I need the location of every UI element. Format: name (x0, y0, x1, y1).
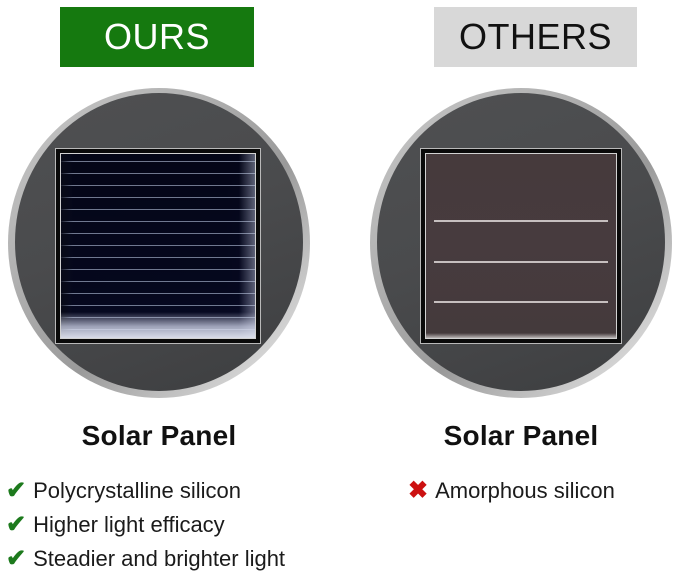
solar-panel-others (420, 148, 622, 344)
check-icon: ✔ (6, 513, 26, 537)
feature-text: Steadier and brighter light (33, 546, 285, 573)
check-icon: ✔ (6, 547, 26, 571)
amorphous-cell-texture (426, 154, 616, 338)
feature-text: Amorphous silicon (435, 478, 615, 505)
list-item: ✖ Amorphous silicon (408, 478, 678, 505)
badge-others-label: OTHERS (459, 19, 612, 55)
panel-busbar-line (434, 261, 608, 263)
caption-others: Solar Panel (370, 420, 672, 452)
list-item: ✔ Higher light efficacy (6, 512, 346, 539)
feature-list-others: ✖ Amorphous silicon (408, 478, 678, 512)
list-item: ✔ Polycrystalline silicon (6, 478, 346, 505)
panel-busbar-line (434, 301, 608, 303)
feature-list-ours: ✔ Polycrystalline silicon ✔ Higher light… (6, 478, 346, 579)
panel-busbar-line (434, 220, 608, 222)
solar-housing-ours (8, 88, 310, 398)
comparison-infographic: OURS OTHERS (0, 0, 679, 587)
panel-left-shadow (61, 154, 73, 338)
solar-housing-others (370, 88, 672, 398)
panel-right-glare (239, 154, 255, 338)
check-icon: ✔ (6, 479, 26, 503)
feature-text: Higher light efficacy (33, 512, 225, 539)
polycrystalline-cell-texture (61, 154, 255, 338)
badge-ours: OURS (60, 7, 254, 67)
solar-panel-others-surface (425, 153, 617, 339)
badge-others: OTHERS (434, 7, 637, 67)
panel-bottom-glare (426, 333, 616, 338)
list-item: ✔ Steadier and brighter light (6, 546, 346, 573)
feature-text: Polycrystalline silicon (33, 478, 241, 505)
solar-panel-ours-surface (60, 153, 256, 339)
solar-panel-ours (55, 148, 261, 344)
caption-ours: Solar Panel (8, 420, 310, 452)
badge-ours-label: OURS (104, 19, 210, 55)
panel-bottom-glare (61, 312, 255, 338)
cross-icon: ✖ (408, 479, 428, 503)
